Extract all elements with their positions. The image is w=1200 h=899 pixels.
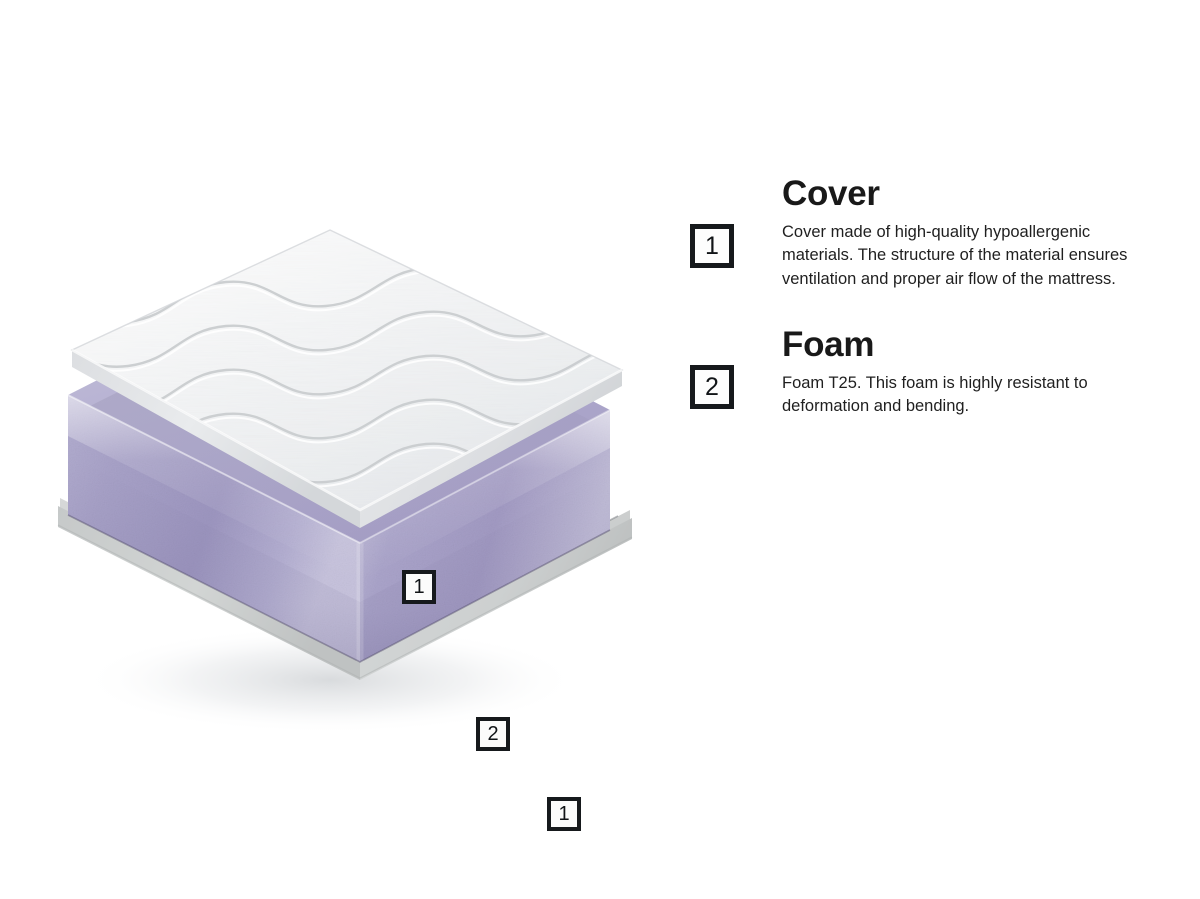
legend-badge-1[interactable]: 1 xyxy=(690,224,734,268)
legend-text-foam: Foam Foam T25. This foam is highly resis… xyxy=(782,327,1160,419)
mattress-svg xyxy=(30,210,690,740)
legend-body-cover: Cover made of high-quality hypoallergeni… xyxy=(782,221,1154,291)
legend-badge-2[interactable]: 2 xyxy=(690,365,734,409)
mattress-illustration: 1 2 1 xyxy=(30,210,690,740)
legend-text-cover: Cover Cover made of high-quality hypoall… xyxy=(782,176,1160,291)
legend-item-foam: 2 Foam Foam T25. This foam is highly res… xyxy=(690,327,1160,419)
marker-1-base-front[interactable]: 1 xyxy=(547,797,581,831)
legend-body-foam: Foam T25. This foam is highly resistant … xyxy=(782,372,1154,419)
marker-2-foam-side[interactable]: 2 xyxy=(476,717,510,751)
legend-panel: 1 Cover Cover made of high-quality hypoa… xyxy=(690,176,1160,455)
marker-1-cover-top[interactable]: 1 xyxy=(402,570,436,604)
legend-badge-wrap-cover: 1 xyxy=(690,176,782,268)
diagram-canvas: 1 2 1 1 Cover Cover made of high-quality… xyxy=(0,0,1200,899)
legend-title-foam: Foam xyxy=(782,327,1160,364)
legend-item-cover: 1 Cover Cover made of high-quality hypoa… xyxy=(690,176,1160,291)
legend-badge-wrap-foam: 2 xyxy=(690,327,782,409)
legend-title-cover: Cover xyxy=(782,176,1160,213)
